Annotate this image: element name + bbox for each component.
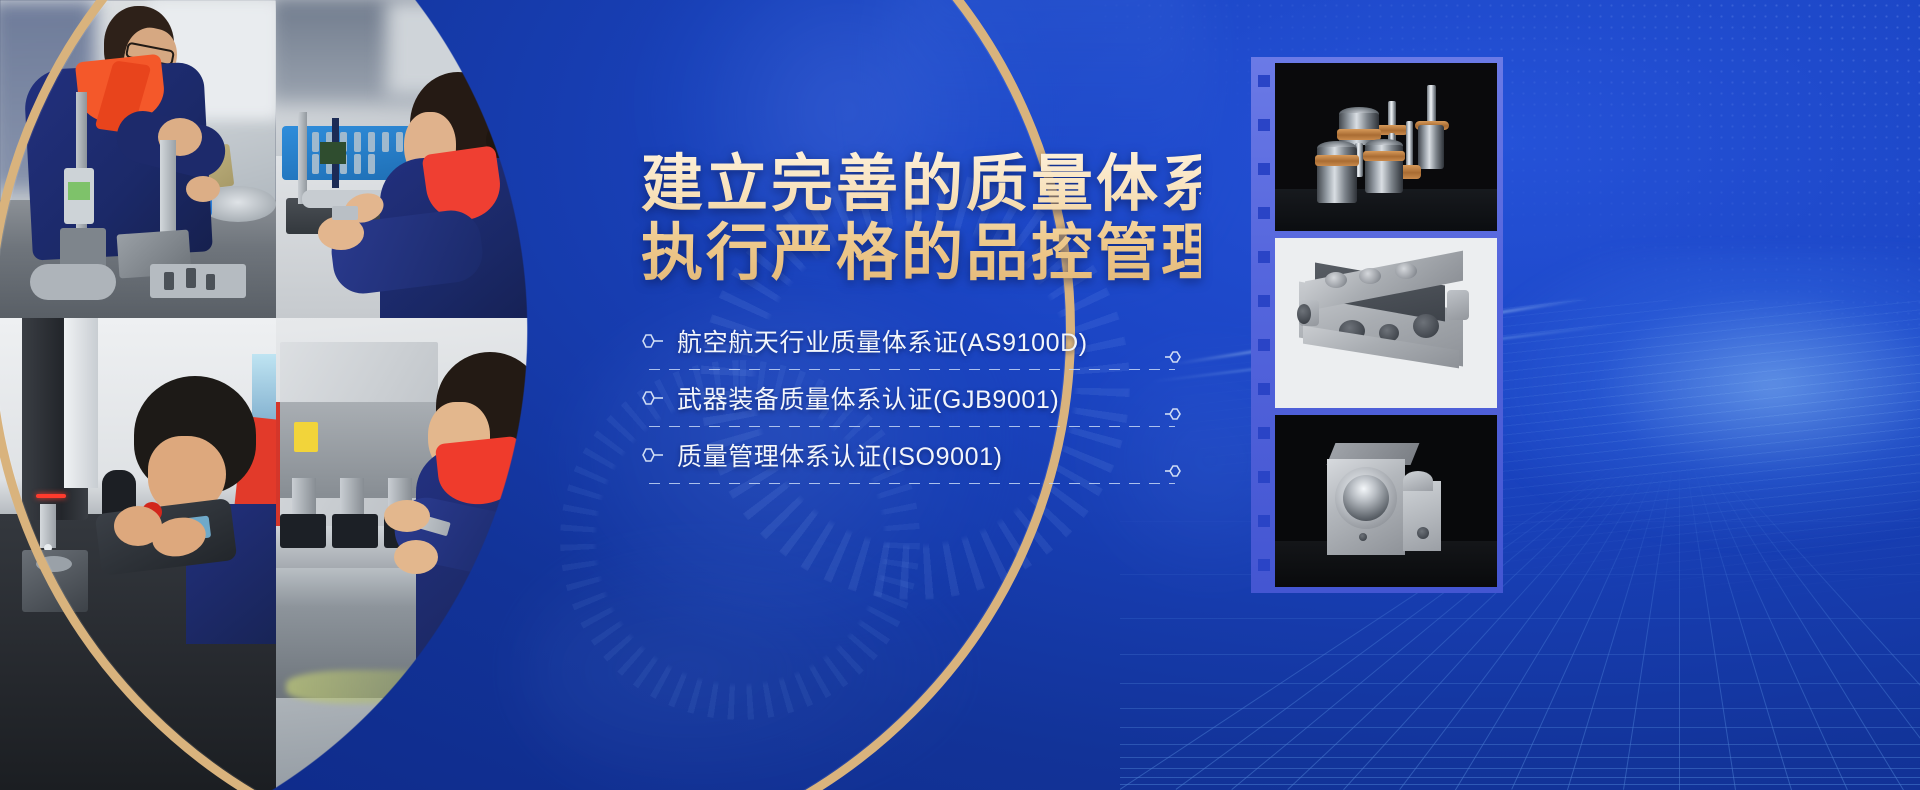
certification-item[interactable]: 武器装备质量体系认证(GJB9001)	[641, 376, 1181, 433]
headline-line-1: 建立完善的质量体系	[641, 150, 1226, 219]
hexagon-endcap-icon	[1165, 407, 1181, 419]
banner-headline: 建立完善的质量体系 执行严格的品控管理	[641, 150, 1201, 289]
certification-list: 航空航天行业质量体系证(AS9100D) 武器装备质量体系认证(GJB9	[641, 319, 1181, 490]
headline-line-2: 执行严格的品控管理	[641, 219, 1201, 288]
certification-label: 质量管理体系认证(ISO9001)	[677, 437, 1003, 473]
hexagon-endcap-icon	[1165, 464, 1181, 476]
product-showcase-panel	[1251, 57, 1503, 593]
hexagon-bullet-icon	[641, 447, 665, 463]
dashed-divider	[649, 426, 1175, 427]
product-image-precision-shafts	[1275, 63, 1497, 231]
dashed-divider	[649, 483, 1175, 484]
certification-item[interactable]: 航空航天行业质量体系证(AS9100D)	[641, 319, 1181, 376]
hexagon-bullet-icon	[641, 333, 665, 349]
product-image-bearing-block	[1275, 415, 1497, 587]
collage-photo-bench-inspection	[276, 0, 566, 318]
hexagon-endcap-icon	[1165, 350, 1181, 362]
collage-photo-cmm-measurement	[0, 318, 276, 790]
certification-item[interactable]: 质量管理体系认证(ISO9001)	[641, 433, 1181, 490]
collage-photo-cnc-operator	[276, 318, 566, 790]
product-image-machined-housing	[1275, 238, 1497, 408]
banner-root: 建立完善的质量体系 执行严格的品控管理 航空航天行业质量体系证(AS9100D)	[0, 0, 1920, 790]
photo-collage	[0, 0, 566, 790]
certification-label: 航空航天行业质量体系证(AS9100D)	[677, 323, 1088, 359]
certification-label: 武器装备质量体系认证(GJB9001)	[677, 380, 1059, 416]
background-perspective-grid	[1120, 460, 1920, 790]
banner-text-block: 建立完善的质量体系 执行严格的品控管理 航空航天行业质量体系证(AS9100D)	[641, 150, 1201, 490]
hexagon-bullet-icon	[641, 390, 665, 406]
collage-photo-height-gauge-inspection	[0, 0, 276, 318]
dashed-divider	[649, 369, 1175, 370]
